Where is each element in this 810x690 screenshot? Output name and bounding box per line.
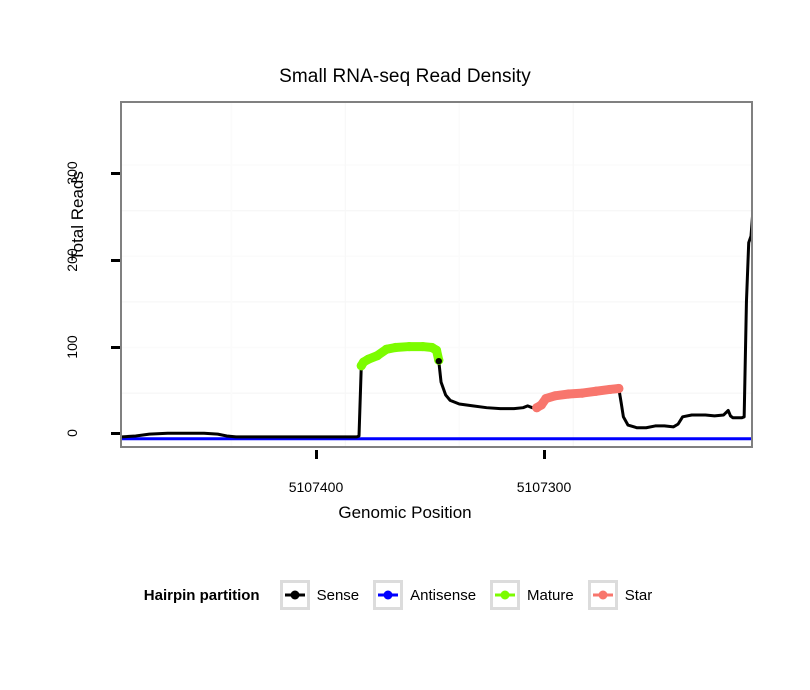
x-axis-label: Genomic Position — [0, 503, 810, 523]
legend-label-sense: Sense — [317, 587, 360, 604]
y-tick-label-200: 200 — [64, 230, 80, 290]
legend-label-antisense: Antisense — [410, 587, 476, 604]
legend-label-star: Star — [625, 587, 653, 604]
legend-label-mature: Mature — [527, 587, 574, 604]
legend-item-antisense[interactable]: Antisense — [373, 580, 476, 610]
x-tick-mark-5107300 — [543, 450, 546, 459]
page-title: Small RNA-seq Read Density — [0, 66, 810, 88]
x-tick-label-5107300: 5107300 — [484, 479, 604, 495]
legend-key-sense-icon — [280, 580, 310, 610]
plot-area — [122, 103, 751, 446]
legend-key-star-icon — [588, 580, 618, 610]
x-tick-mark-5107400 — [315, 450, 318, 459]
y-tick-mark-0 — [111, 432, 120, 435]
series-sense — [122, 118, 751, 437]
y-tick-label-0: 0 — [64, 403, 80, 463]
legend: Hairpin partition Sense Antisense Mature… — [0, 578, 810, 612]
y-tick-label-300: 300 — [64, 143, 80, 203]
chart-figure: Small RNA-seq Read Density Total Reads 3… — [0, 0, 810, 690]
data-series-layer — [122, 103, 751, 446]
y-tick-mark-100 — [111, 346, 120, 349]
y-tick-label-100: 100 — [64, 317, 80, 377]
plot-panel — [120, 101, 753, 448]
legend-key-mature-icon — [490, 580, 520, 610]
y-tick-mark-200 — [111, 259, 120, 262]
legend-item-mature[interactable]: Mature — [490, 580, 574, 610]
legend-item-star[interactable]: Star — [588, 580, 653, 610]
y-tick-mark-300 — [111, 172, 120, 175]
legend-item-sense[interactable]: Sense — [280, 580, 360, 610]
x-tick-label-5107400: 5107400 — [256, 479, 376, 495]
legend-key-antisense-icon — [373, 580, 403, 610]
legend-title: Hairpin partition — [144, 587, 260, 604]
